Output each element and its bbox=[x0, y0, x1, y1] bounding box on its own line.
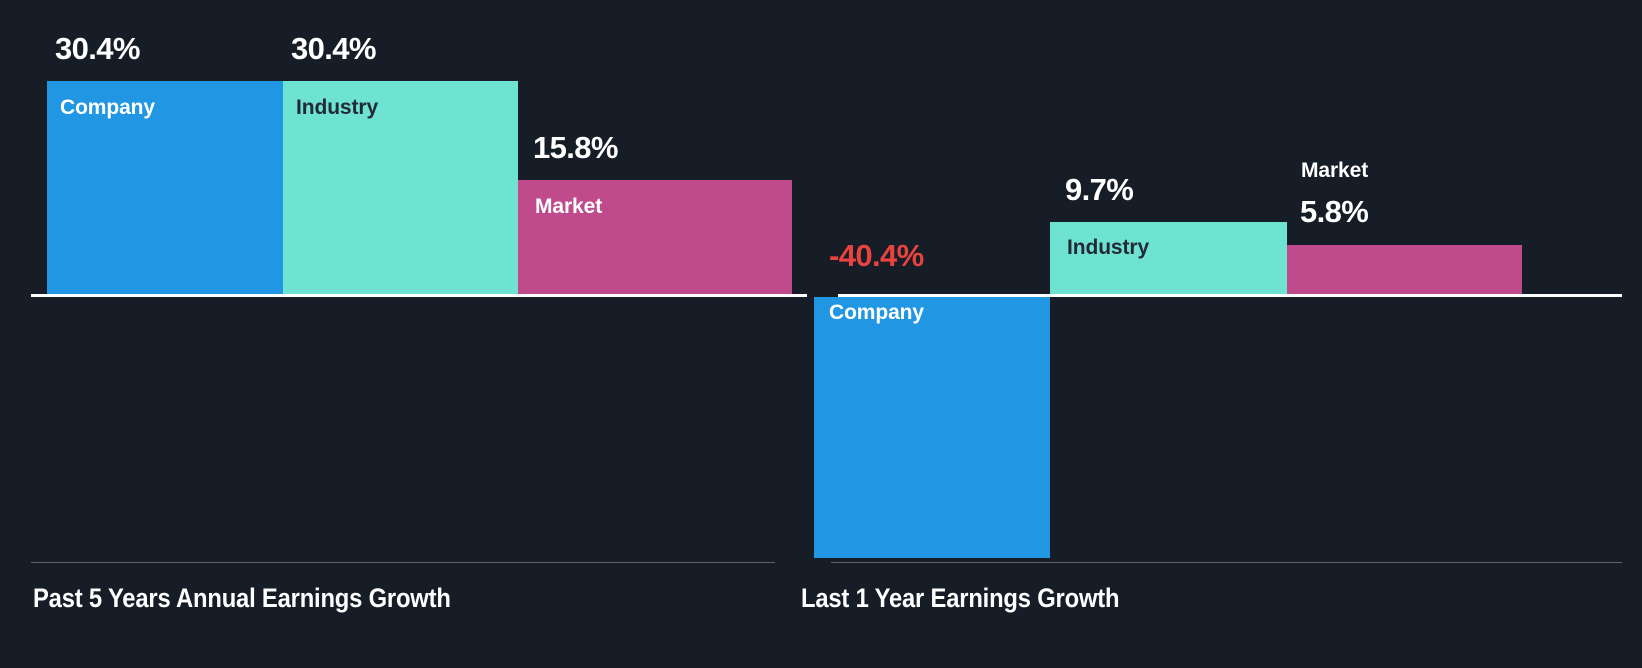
bar-market-right[interactable] bbox=[1287, 245, 1522, 296]
bar-label-company-left: Company bbox=[60, 96, 155, 120]
value-label-industry-right: 9.7% bbox=[1065, 172, 1133, 208]
zero-axis-right bbox=[838, 294, 1622, 297]
bar-company-right[interactable] bbox=[814, 297, 1050, 558]
value-label-company-right: -40.4% bbox=[829, 238, 924, 274]
value-label-market-left: 15.8% bbox=[533, 130, 618, 166]
bottom-rule-right bbox=[831, 562, 1622, 563]
bar-label-company-right: Company bbox=[829, 301, 924, 325]
chart-panel-last-1-year: -40.4% Company 9.7% Industry Market 5.8%… bbox=[800, 0, 1642, 668]
value-label-industry-left: 30.4% bbox=[291, 31, 376, 67]
value-label-company-left: 30.4% bbox=[55, 31, 140, 67]
zero-axis-stub-right bbox=[800, 294, 807, 297]
value-label-market-right: 5.8% bbox=[1300, 194, 1368, 230]
chart-title-left: Past 5 Years Annual Earnings Growth bbox=[33, 583, 451, 614]
zero-axis-left bbox=[31, 294, 806, 297]
chart-panel-past-5-years: 30.4% Company 30.4% Industry 15.8% Marke… bbox=[0, 0, 806, 668]
chart-title-right: Last 1 Year Earnings Growth bbox=[801, 583, 1119, 614]
bar-label-industry-right: Industry bbox=[1067, 236, 1149, 260]
bar-label-market-left: Market bbox=[535, 195, 602, 219]
bar-label-market-right: Market bbox=[1301, 159, 1368, 183]
bar-label-industry-left: Industry bbox=[296, 96, 378, 120]
plot-area-left: 30.4% Company 30.4% Industry 15.8% Marke… bbox=[0, 0, 806, 564]
bottom-rule-left bbox=[31, 562, 775, 563]
plot-area-right: -40.4% Company 9.7% Industry Market 5.8% bbox=[800, 0, 1642, 564]
